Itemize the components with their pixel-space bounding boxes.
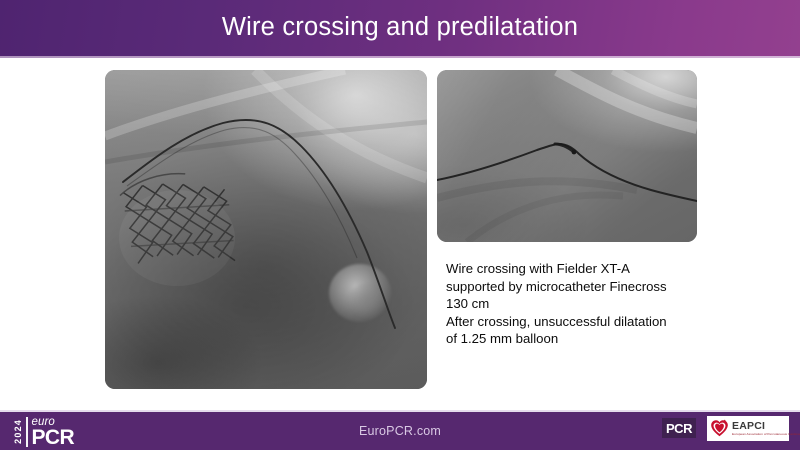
caption-line-5: of 1.25 mm balloon bbox=[446, 330, 702, 348]
slide-header: Wire crossing and predilatation bbox=[0, 0, 800, 56]
angiogram-image-left bbox=[105, 70, 427, 389]
caption-line-1: Wire crossing with Fielder XT-A bbox=[446, 260, 702, 278]
caption-line-2: supported by microcatheter Finecross bbox=[446, 278, 702, 296]
pcr-logo-label: PCR bbox=[666, 421, 692, 436]
page-title: Wire crossing and predilatation bbox=[222, 15, 578, 41]
logo-year-label: 2024 bbox=[14, 419, 23, 444]
eapci-text-block: EAPCI European Association of Percutaneo… bbox=[732, 421, 800, 436]
header-accent-rule bbox=[0, 56, 800, 58]
caption-line-3: 130 cm bbox=[446, 295, 702, 313]
heart-icon bbox=[710, 419, 729, 438]
caption-block: Wire crossing with Fielder XT-A supporte… bbox=[446, 260, 702, 348]
eapci-name: EAPCI bbox=[732, 421, 800, 432]
logo-pcr-label: PCR bbox=[32, 428, 75, 447]
logo-wordmark: euro PCR bbox=[32, 417, 75, 447]
angiogram-image-right bbox=[437, 70, 697, 242]
eapci-subtitle: European Association of Percutaneous Car… bbox=[732, 432, 800, 436]
caption-line-4: After crossing, unsuccessful dilatation bbox=[446, 313, 702, 331]
slide-canvas: Wire crossing and predilatation bbox=[0, 0, 800, 450]
logo-divider bbox=[26, 417, 28, 447]
europcr-logo: 2024 euro PCR bbox=[14, 413, 74, 450]
angiogram-right-vector-overlay bbox=[437, 70, 697, 242]
eapci-logo: EAPCI European Association of Percutaneo… bbox=[707, 416, 789, 441]
angiogram-left-vector-overlay bbox=[105, 70, 427, 389]
pcr-logo-mark: PCR bbox=[662, 418, 696, 438]
